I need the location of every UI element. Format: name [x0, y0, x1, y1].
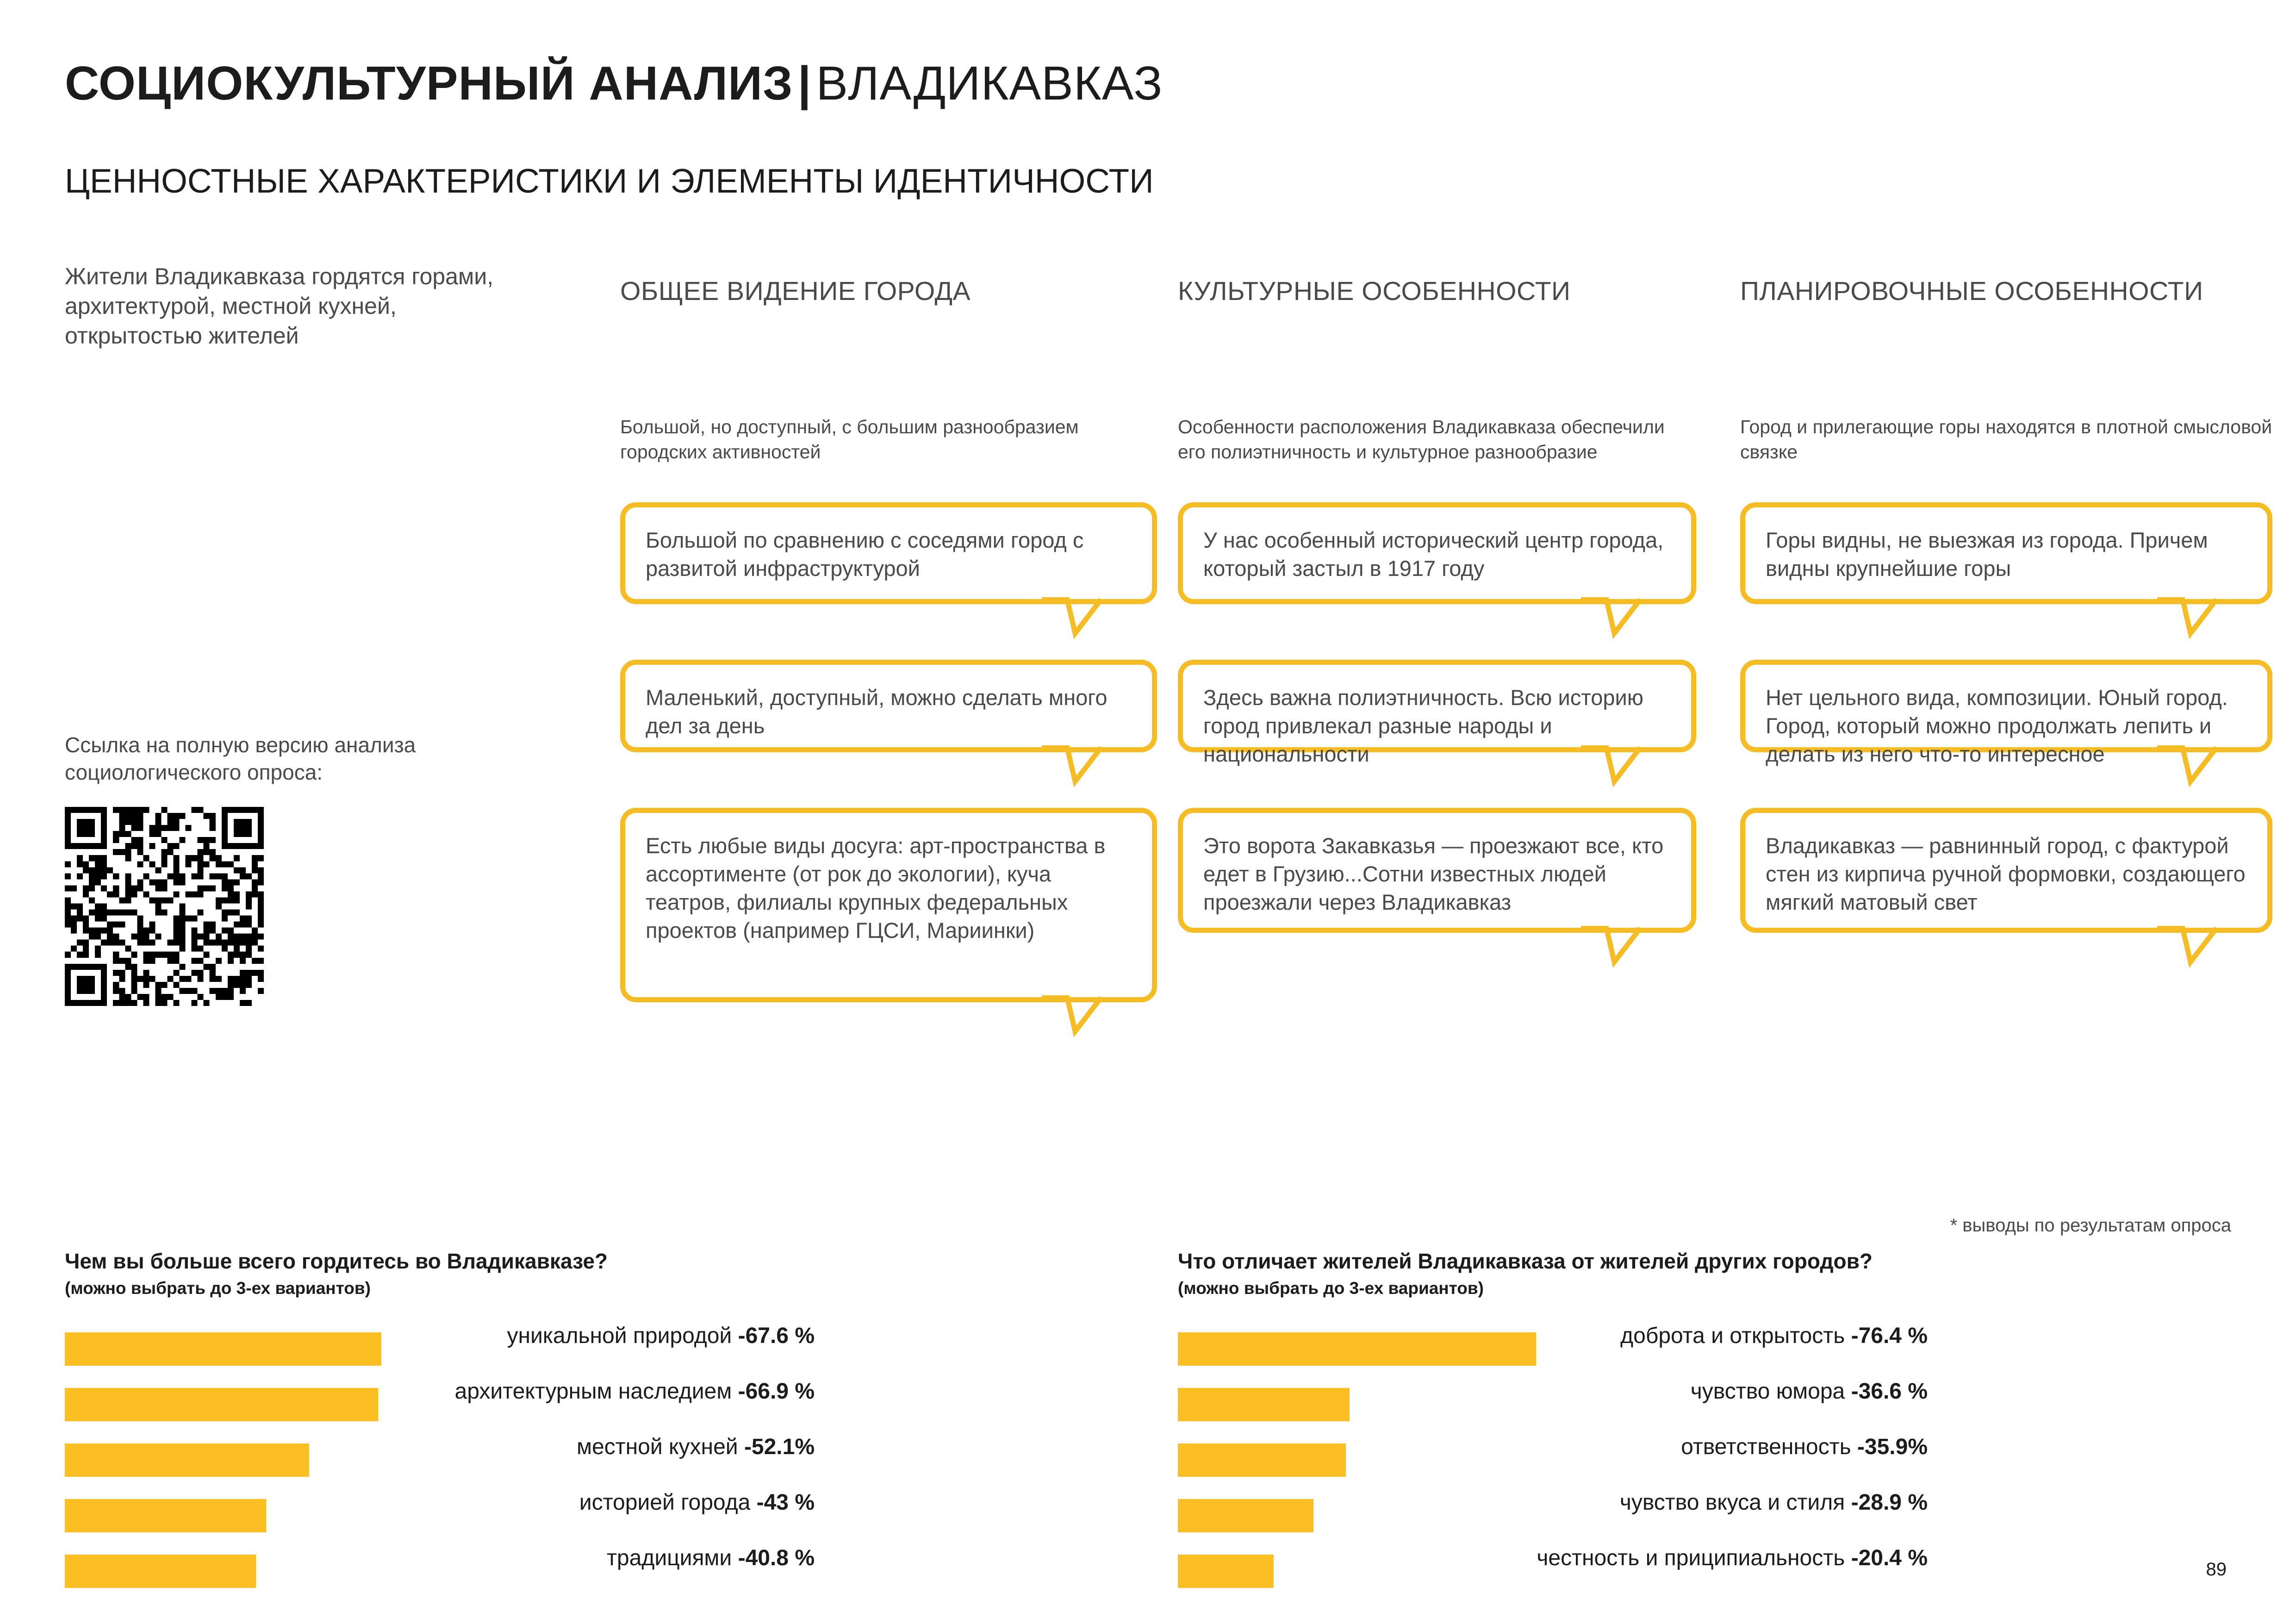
bar-value: -28.9 %: [1851, 1490, 1928, 1515]
bar-fill: [65, 1332, 381, 1366]
bar-value: -67.6 %: [738, 1324, 815, 1348]
chart-subtitle: (можно выбрать до 3-ех вариантов): [1178, 1279, 2196, 1298]
page-number: 89: [2206, 1559, 2227, 1580]
bubble-tail-icon: [2157, 926, 2217, 964]
bar-track: местной кухней -52.1%: [65, 1436, 815, 1484]
chart-title: Что отличает жителей Владикавказа от жит…: [1178, 1250, 2196, 1272]
bubble-tail-icon: [2157, 745, 2217, 783]
bar-label: уникальной природой -67.6 %: [507, 1325, 815, 1347]
bar-row: честность и приципиальность -20.4 %: [1178, 1547, 2196, 1595]
bar-category: честность и приципиальность: [1537, 1546, 1851, 1570]
quote-stack: Большой по сравнению с соседями город с …: [620, 502, 1157, 1002]
bar-label: честность и приципиальность -20.4 %: [1537, 1547, 1928, 1569]
page-subtitle: ЦЕННОСТНЫЕ ХАРАКТЕРИСТИКИ И ЭЛЕМЕНТЫ ИДЕ…: [65, 164, 1154, 198]
column-header: ОБЩЕЕ ВИДЕНИЕ ГОРОДА: [620, 275, 1157, 368]
bubble-tail-icon: [2157, 597, 2217, 635]
bar-category: чувство вкуса и стиля: [1620, 1490, 1851, 1515]
bar-category: чувство юмора: [1691, 1379, 1851, 1404]
quote-stack: У нас особенный исторический центр город…: [1178, 502, 1696, 933]
bar-row: традициями -40.8 %: [65, 1547, 1046, 1595]
bar-category: местной кухней: [577, 1435, 744, 1459]
quote-text: Горы видны, не выезжая из города. Причем…: [1766, 528, 2208, 581]
bubble-tail-icon: [1042, 745, 1102, 783]
bar-row: уникальной природой -67.6 %: [65, 1325, 1046, 1373]
quote-bubble: Владикавказ — равнинный город, с фактуро…: [1740, 808, 2272, 933]
title-main: СОЦИОКУЛЬТУРНЫЙ АНАЛИЗ: [65, 56, 793, 110]
quote-bubble: Маленький, доступный, можно сделать мног…: [620, 660, 1157, 752]
bar-category: историей города: [579, 1490, 757, 1515]
bar-label: доброта и открытость -76.4 %: [1620, 1325, 1928, 1347]
bar-track: чувство вкуса и стиля -28.9 %: [1178, 1492, 1928, 1540]
bar-label: местной кухней -52.1%: [577, 1436, 815, 1458]
bar-value: -76.4 %: [1851, 1324, 1928, 1348]
bar-row: чувство юмора -36.6 %: [1178, 1380, 2196, 1429]
quote-bubble: Это ворота Закавказья — проезжают все, к…: [1178, 808, 1696, 933]
intro-paragraph: Жители Владикавказа гордятся горами, арх…: [65, 262, 509, 350]
column-cultural-features: КУЛЬТУРНЫЕ ОСОБЕННОСТИ Особенности распо…: [1178, 275, 1696, 368]
bar-track: ответственность -35.9%: [1178, 1436, 1928, 1484]
quote-bubble: Горы видны, не выезжая из города. Причем…: [1740, 502, 2272, 604]
bar-track: чувство юмора -36.6 %: [1178, 1380, 1928, 1429]
qr-code-icon[interactable]: [65, 807, 264, 1006]
bar-value: -35.9%: [1857, 1435, 1928, 1459]
chart-subtitle: (можно выбрать до 3-ех вариантов): [65, 1279, 1046, 1298]
bar-fill: [1178, 1332, 1536, 1366]
qr-caption: Ссылка на полную версию анализа социолог…: [65, 731, 417, 786]
bar-category: архитектурным наследием: [455, 1379, 738, 1404]
chart-pride: Чем вы больше всего гордитесь во Владика…: [65, 1250, 1046, 1603]
bar-track: историей города -43 %: [65, 1492, 815, 1540]
bar-track: доброта и открытость -76.4 %: [1178, 1325, 1928, 1373]
bar-value: -36.6 %: [1851, 1379, 1928, 1404]
bar-row: архитектурным наследием -66.9 %: [65, 1380, 1046, 1429]
bar-value: -66.9 %: [738, 1379, 815, 1404]
title-line: СОЦИОКУЛЬТУРНЫЙ АНАЛИЗ|ВЛАДИКАВКАЗ: [65, 59, 1163, 107]
bubble-tail-icon: [1581, 926, 1641, 964]
quote-bubble: Большой по сравнению с соседями город с …: [620, 502, 1157, 604]
bar-list: доброта и открытость -76.4 %чувство юмор…: [1178, 1325, 2196, 1595]
title-city: ВЛАДИКАВКАЗ: [816, 56, 1163, 110]
bar-category: традициями: [607, 1546, 738, 1570]
quote-text: Здесь важна полиэтничность. Всю историю …: [1203, 685, 1643, 766]
bar-row: ответственность -35.9%: [1178, 1436, 2196, 1484]
bar-track: уникальной природой -67.6 %: [65, 1325, 815, 1373]
bar-label: чувство вкуса и стиля -28.9 %: [1620, 1492, 1928, 1514]
bar-fill: [1178, 1499, 1313, 1532]
quote-bubble: Есть любые виды досуга: арт-пространства…: [620, 808, 1157, 1002]
column-header: КУЛЬТУРНЫЕ ОСОБЕННОСТИ: [1178, 275, 1696, 368]
bar-label: архитектурным наследием -66.9 %: [455, 1380, 815, 1403]
column-header: ПЛАНИРОВОЧНЫЕ ОСОБЕННОСТИ: [1740, 275, 2272, 368]
footnote: * выводы по результатам опроса: [1950, 1215, 2231, 1236]
bar-row: местной кухней -52.1%: [65, 1436, 1046, 1484]
bar-fill: [1178, 1555, 1274, 1588]
bar-row: чувство вкуса и стиля -28.9 %: [1178, 1492, 2196, 1540]
quote-text: Это ворота Закавказья — проезжают все, к…: [1203, 833, 1663, 914]
bar-label: традициями -40.8 %: [607, 1547, 815, 1569]
bar-fill: [1178, 1443, 1346, 1477]
page-title: СОЦИОКУЛЬТУРНЫЙ АНАЛИЗ|ВЛАДИКАВКАЗ: [65, 59, 1163, 107]
column-subtitle: Город и прилегающие горы находятся в пло…: [1740, 414, 2272, 464]
bar-label: чувство юмора -36.6 %: [1691, 1380, 1928, 1403]
bar-fill: [1178, 1388, 1350, 1421]
column-subtitle: Особенности расположения Владикавказа об…: [1178, 414, 1696, 464]
bar-fill: [65, 1499, 266, 1532]
quote-text: Есть любые виды досуга: арт-пространства…: [646, 833, 1105, 943]
quote-bubble: Нет цельного вида, композиции. Юный горо…: [1740, 660, 2272, 752]
bubble-tail-icon: [1042, 597, 1102, 635]
column-subtitle: Большой, но доступный, с большим разнооб…: [620, 414, 1157, 464]
quote-bubble: Здесь важна полиэтничность. Всю историю …: [1178, 660, 1696, 752]
bar-track: честность и приципиальность -20.4 %: [1178, 1547, 1928, 1595]
bar-category: ответственность: [1681, 1435, 1857, 1459]
bar-list: уникальной природой -67.6 %архитектурным…: [65, 1325, 1046, 1595]
bar-fill: [65, 1388, 378, 1421]
bar-track: традициями -40.8 %: [65, 1547, 815, 1595]
bar-value: -20.4 %: [1851, 1546, 1928, 1570]
bar-value: -52.1%: [744, 1435, 815, 1459]
qr-block: Ссылка на полную версию анализа социолог…: [65, 731, 417, 1006]
column-general-vision: ОБЩЕЕ ВИДЕНИЕ ГОРОДА Большой, но доступн…: [620, 275, 1157, 368]
chart-distinction: Что отличает жителей Владикавказа от жит…: [1178, 1250, 2196, 1603]
bar-label: ответственность -35.9%: [1681, 1436, 1928, 1458]
bar-category: уникальной природой: [507, 1324, 738, 1348]
bar-row: историей города -43 %: [65, 1492, 1046, 1540]
bar-fill: [65, 1555, 256, 1588]
chart-title: Чем вы больше всего гордитесь во Владика…: [65, 1250, 1046, 1272]
bar-category: доброта и открытость: [1620, 1324, 1851, 1348]
quote-text: Большой по сравнению с соседями город с …: [646, 528, 1083, 581]
bar-value: -40.8 %: [738, 1546, 815, 1570]
bar-fill: [65, 1443, 309, 1477]
bar-track: архитектурным наследием -66.9 %: [65, 1380, 815, 1429]
quote-text: У нас особенный исторический центр город…: [1203, 528, 1663, 581]
column-planning-features: ПЛАНИРОВОЧНЫЕ ОСОБЕННОСТИ Город и прилег…: [1740, 275, 2272, 368]
bubble-tail-icon: [1581, 745, 1641, 783]
quote-stack: Горы видны, не выезжая из города. Причем…: [1740, 502, 2272, 933]
title-separator: |: [793, 56, 816, 110]
quote-bubble: У нас особенный исторический центр город…: [1178, 502, 1696, 604]
quote-text: Маленький, доступный, можно сделать мног…: [646, 685, 1107, 738]
bar-value: -43 %: [757, 1490, 815, 1515]
bar-row: доброта и открытость -76.4 %: [1178, 1325, 2196, 1373]
bubble-tail-icon: [1042, 995, 1102, 1033]
quote-text: Владикавказ — равнинный город, с фактуро…: [1766, 833, 2246, 914]
bubble-tail-icon: [1581, 597, 1641, 635]
bar-label: историей города -43 %: [579, 1492, 815, 1514]
